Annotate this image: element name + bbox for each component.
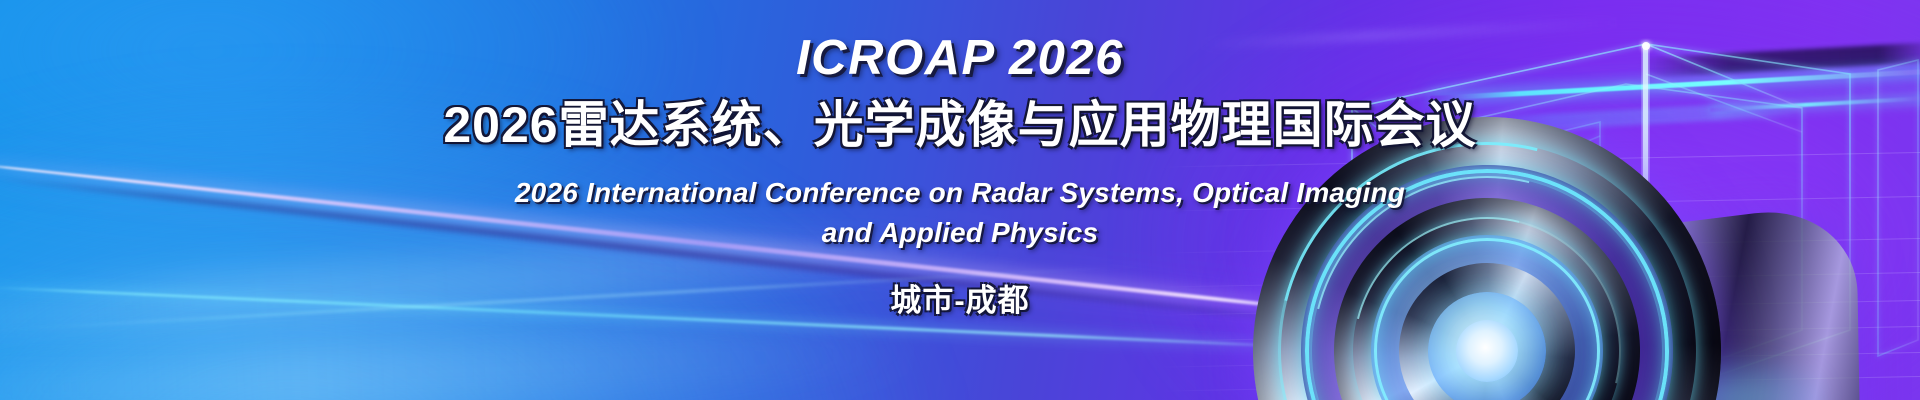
banner-text-block: ICROAP 2026 2026雷达系统、光学成像与应用物理国际会议 2026 … [0, 0, 1920, 400]
conference-banner: ICROAP 2026 2026雷达系统、光学成像与应用物理国际会议 2026 … [0, 0, 1920, 400]
conference-acronym: ICROAP 2026 [796, 34, 1124, 83]
conference-title-english-line2: and Applied Physics [822, 214, 1099, 253]
conference-title-english-line1: 2026 International Conference on Radar S… [515, 174, 1405, 213]
conference-city: 城市-成都 [890, 275, 1029, 320]
conference-title-chinese: 2026雷达系统、光学成像与应用物理国际会议 [443, 99, 1476, 152]
